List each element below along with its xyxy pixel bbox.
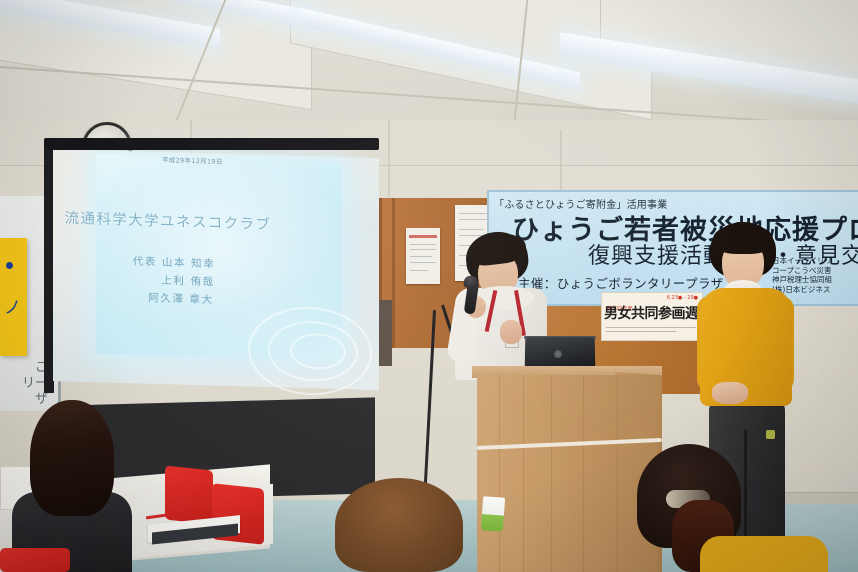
audience-member-hair-center xyxy=(335,478,463,572)
banner-sponsor-list: 日本イーライリリ コープこうべ災害 神戸税理士協同組 (株)日本ビジネス xyxy=(772,256,858,294)
sponsor-line: 日本イーライリリ xyxy=(772,256,858,266)
presentation-room-photo: 「ふるさとひょうご寄附金」活用事業 ひょうご若者被災地応援プロ 復興支援活動発表… xyxy=(0,0,858,572)
wooden-lectern xyxy=(477,375,657,572)
banner-kana-glyph: ノ xyxy=(4,300,21,317)
screen-top-frame xyxy=(44,138,379,150)
slide-date: 平成29年12月19日 xyxy=(162,154,223,166)
wall-seam xyxy=(388,120,390,198)
red-chair[interactable] xyxy=(165,465,213,524)
flyer-left xyxy=(406,228,440,284)
poster-dates: 6.23● - 29● xyxy=(667,295,698,301)
yellow-standing-banner xyxy=(0,238,27,356)
sponsor-line: 神戸税理士協同組 xyxy=(772,275,858,285)
poster-main-text: 男女共同参画週間 xyxy=(604,303,698,323)
poster-footer xyxy=(606,325,696,334)
slide-presenter-names: 代表 山本 知幸 上利 侑哉 阿久澤 章大 xyxy=(74,251,274,312)
banner-dot-glyph xyxy=(6,262,13,269)
banner-host-line: 主催：ひょうごボランタリープラザ xyxy=(518,273,724,292)
projector-screen: 平成29年12月19日 流通科学大学ユネスコクラブ 代表 山本 知幸 上利 侑哉… xyxy=(44,138,379,393)
red-chair[interactable] xyxy=(0,548,70,572)
presenter2-pocket-detail xyxy=(766,430,775,439)
presenter2-leg-seam xyxy=(744,430,747,552)
presenter2-fringe xyxy=(713,224,773,254)
microphone-head-icon xyxy=(463,275,479,289)
presenter2-hands xyxy=(712,382,748,404)
vertical-text-line: ザ xyxy=(0,392,52,408)
presenter1-other-hand xyxy=(500,320,522,344)
audience-member-yellow-foreground xyxy=(700,536,828,572)
notice-board-seam xyxy=(392,198,395,348)
sponsor-line: コープこうべ災害 xyxy=(772,266,858,276)
paper-cup xyxy=(481,496,505,531)
audience-member-hair-left xyxy=(30,400,114,516)
sponsor-line: (株)日本ビジネス xyxy=(772,285,858,295)
laptop-logo-icon xyxy=(554,350,562,358)
